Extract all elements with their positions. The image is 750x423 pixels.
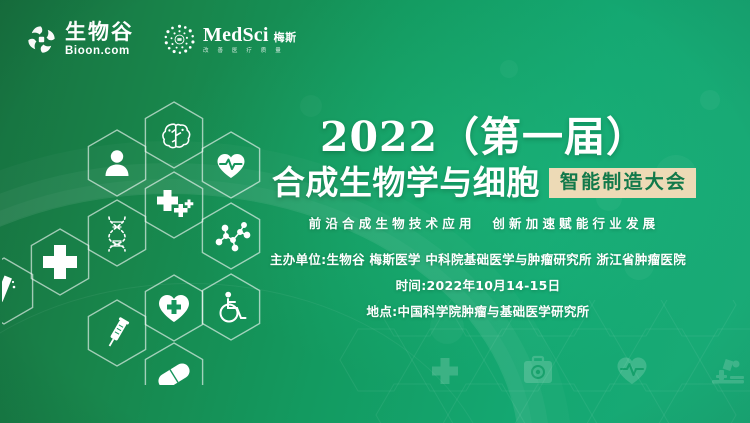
title-block: 2022（第一届） 合成生物学与细胞 智能制造大会 前沿合成生物技术应用 创新加…	[238, 112, 730, 232]
cross-icon	[430, 356, 460, 386]
venue-line: 地点:中国科学院肿瘤与基础医学研究所	[218, 303, 738, 320]
bioon-logo[interactable]: 生物谷 Bioon.com	[26, 22, 134, 58]
hex-brain	[145, 102, 202, 168]
hex-medical-cross	[31, 229, 88, 295]
hex-multi-cross	[145, 172, 202, 238]
bioon-wordmark: 生物谷 Bioon.com	[65, 22, 134, 58]
medsci-dot-circle-logo-icon	[163, 23, 196, 56]
organizers-line: 主办单位:生物谷 梅斯医学 中科院基础医学与肿瘤研究所 浙江省肿瘤医院	[218, 251, 738, 268]
hex-syringe	[88, 300, 145, 366]
bioon-cn-name: 生物谷	[65, 22, 134, 43]
hex-doctor-person	[88, 130, 145, 196]
medsci-tagline: 改 善 医 疗 质 量	[203, 49, 297, 55]
medical-bag-icon	[522, 355, 554, 387]
date-line: 时间:2022年10月14-15日	[218, 277, 738, 294]
hex-test-tube	[2, 258, 33, 324]
hex-heart-cross	[145, 275, 202, 341]
conference-main-title: 合成生物学与细胞	[272, 164, 540, 201]
conference-info-block: 主办单位:生物谷 梅斯医学 中科院基础医学与肿瘤研究所 浙江省肿瘤医院 时间:2…	[218, 251, 738, 320]
conference-banner: 生物谷 Bioon.com	[0, 0, 750, 423]
conference-year: 2022（第一届）	[238, 112, 730, 162]
medsci-wordmark: MedSci 梅斯 改 善 医 疗 质 量	[203, 25, 297, 55]
microscope-lab-icon	[710, 356, 746, 386]
bokeh-circle	[700, 90, 720, 110]
hex-pill-capsule	[145, 343, 202, 385]
medical-hexagon-icon-cluster	[2, 95, 262, 385]
hex-dna-helix	[88, 200, 145, 266]
bokeh-circle	[500, 60, 518, 78]
medsci-en-name: MedSci	[203, 25, 269, 45]
bioon-pinwheel-logo-icon	[26, 24, 57, 55]
medsci-logo[interactable]: MedSci 梅斯 改 善 医 疗 质 量	[163, 23, 297, 56]
logo-bar: 生物谷 Bioon.com	[26, 22, 297, 58]
conference-subtitle: 前沿合成生物技术应用 创新加速赋能行业发展	[238, 213, 730, 232]
conference-title-badge: 智能制造大会	[549, 168, 696, 198]
bioon-en-name: Bioon.com	[65, 46, 134, 58]
heart-pulse-icon	[616, 356, 648, 386]
bottom-decorative-icons	[430, 355, 746, 387]
medsci-cn-name: 梅斯	[274, 32, 297, 45]
